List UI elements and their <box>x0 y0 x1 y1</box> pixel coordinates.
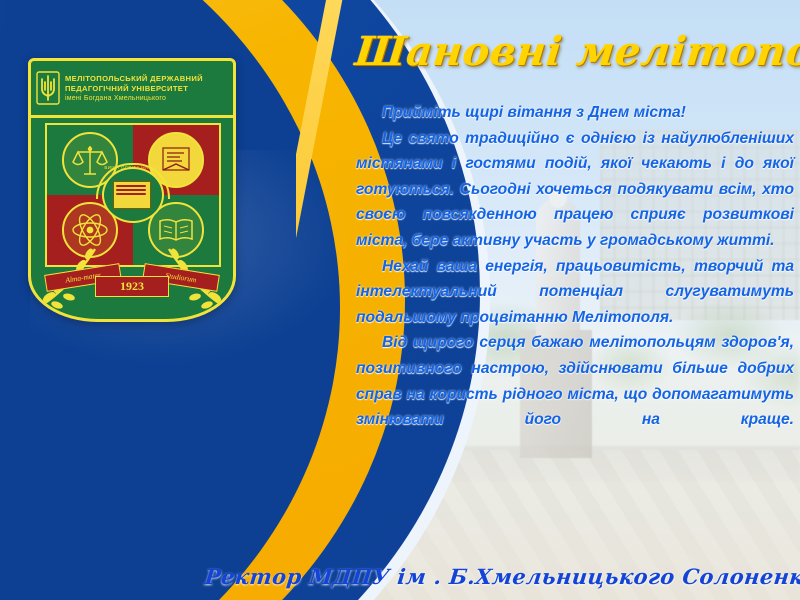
globe-emblem-icon: ВИЩА ОСВІТА НАУКА <box>96 163 166 223</box>
paragraph-2: Це свято традиційно є однією із найулюбл… <box>356 126 794 254</box>
card-title: Шановні мелітопольці! <box>352 24 799 88</box>
trident-icon <box>36 71 60 105</box>
emblem-ribbon: Alma-mater Studiorum 1923 <box>39 263 225 297</box>
emblem-line-3: імені Богдана Хмельницького <box>65 94 203 103</box>
emblem-header: МЕЛІТОПОЛЬСЬКИЙ ДЕРЖАВНИЙ ПЕДАГОГІЧНИЙ У… <box>31 61 233 118</box>
signature-text: Ректор МДПУ ім . Б.Хмельницького Солонен… <box>203 562 798 592</box>
paragraph-1: Прийміть щирі вітання з Днем міста! <box>356 100 794 126</box>
paragraph-3: Нехай ваша енергія, працьовитість, творч… <box>356 254 794 331</box>
emblem-line-2: ПЕДАГОГІЧНИЙ УНІВЕРСИТЕТ <box>65 84 203 93</box>
emblem-header-text: МЕЛІТОПОЛЬСЬКИЙ ДЕРЖАВНИЙ ПЕДАГОГІЧНИЙ У… <box>65 74 203 103</box>
paragraph-4: Від щирого серця бажаю мелітопольцям здо… <box>356 330 794 432</box>
emblem-motto-arc: ВИЩА ОСВІТА НАУКА <box>96 165 166 170</box>
ribbon-year-text: 1923 <box>95 276 169 297</box>
greeting-card: МЕЛІТОПОЛЬСЬКИЙ ДЕРЖАВНИЙ ПЕДАГОГІЧНИЙ У… <box>0 0 800 600</box>
card-body: Прийміть щирі вітання з Днем міста! Це с… <box>356 100 794 433</box>
university-emblem: МЕЛІТОПОЛЬСЬКИЙ ДЕРЖАВНИЙ ПЕДАГОГІЧНИЙ У… <box>28 58 236 322</box>
emblem-line-1: МЕЛІТОПОЛЬСЬКИЙ ДЕРЖАВНИЙ <box>65 74 203 83</box>
